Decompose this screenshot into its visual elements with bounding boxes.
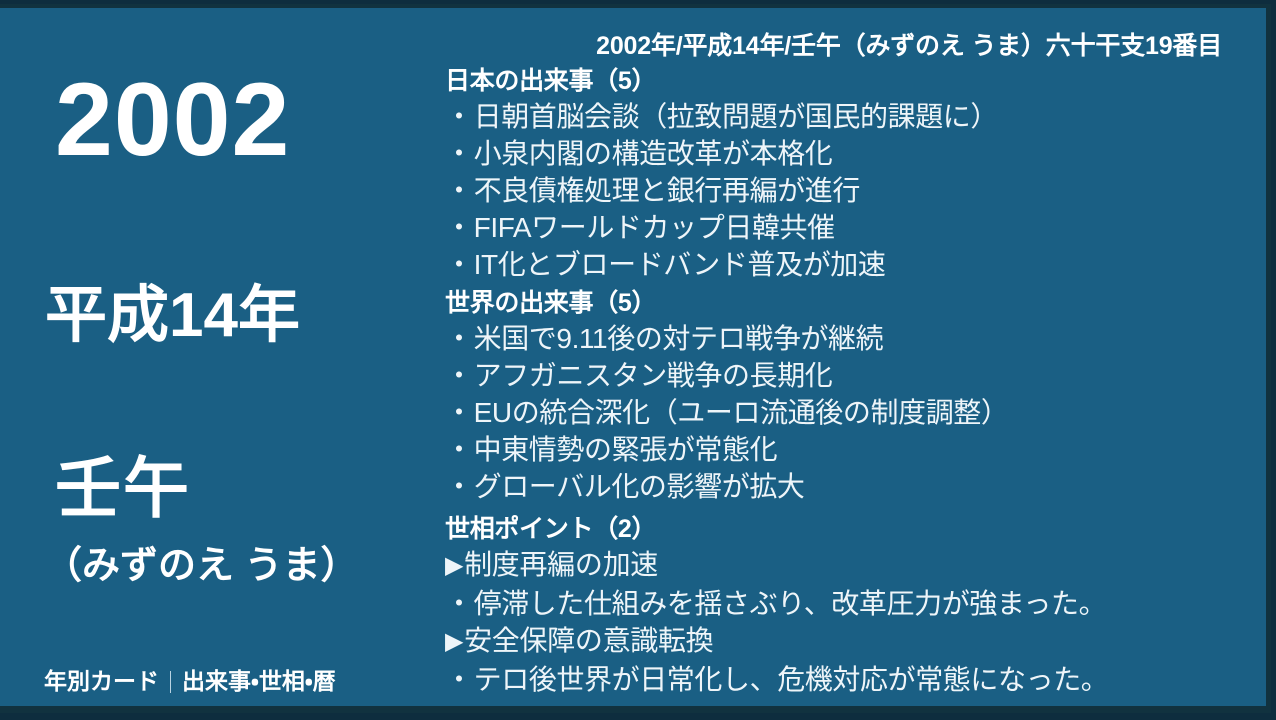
left-column: 2002 平成14年 壬午 （みずのえ うま） 年別カード 出来事・世相・暦 <box>0 4 440 713</box>
section-japan-events: 日本の出来事（5） ・日朝首脳会談（拉致問題が国民的課題に）・小泉内閣の構造改革… <box>445 64 998 283</box>
list-item: ・IT化とブロードバンド普及が加速 <box>445 246 998 283</box>
list-item-text: EUの統合深化（ユーロ流通後の制度調整） <box>474 394 1009 431</box>
list-item-text: FIFAワールドカップ日韓共催 <box>474 209 835 246</box>
triangle-marker-icon: ▶ <box>445 547 463 584</box>
bullet-dot-icon: ・ <box>445 209 473 246</box>
top-edge-bar <box>0 4 1271 8</box>
footer-divider <box>170 671 171 693</box>
list-item-text: 制度再編の加速 <box>464 546 658 583</box>
right-column: 日本の出来事（5） ・日朝首脳会談（拉致問題が国民的課題に）・小泉内閣の構造改革… <box>440 4 1271 713</box>
list-item: ▶制度再編の加速 <box>445 546 1108 585</box>
year-heading: 2002 <box>55 68 290 172</box>
list-item: ・FIFAワールドカップ日韓共催 <box>445 209 998 246</box>
list-item-text: 日朝首脳会談（拉致問題が国民的課題に） <box>474 98 998 135</box>
right-edge-bar <box>1266 4 1271 713</box>
footer-label-topics: 出来事・世相・暦 <box>182 670 336 693</box>
list-item-text: IT化とブロードバンド普及が加速 <box>474 246 886 283</box>
card-footer: 年別カード 出来事・世相・暦 <box>44 670 336 693</box>
era-heading: 平成14年 <box>45 285 300 347</box>
list-item-text: テロ後世界が日常化し、危機対応が常態になった。 <box>474 661 1109 698</box>
bullet-dot-icon: ・ <box>445 246 473 283</box>
bullet-dot-icon: ・ <box>445 585 473 622</box>
bullet-dot-icon: ・ <box>445 135 473 172</box>
triangle-marker-icon: ▶ <box>445 623 463 660</box>
bullet-dot-icon: ・ <box>445 98 473 135</box>
list-item: ・グローバル化の影響が拡大 <box>445 468 1009 505</box>
bullet-dot-icon: ・ <box>445 320 473 357</box>
list-item: ・中東情勢の緊張が常態化 <box>445 431 1009 468</box>
list-item: ・テロ後世界が日常化し、危機対応が常態になった。 <box>445 661 1108 698</box>
list-item-text: 停滞した仕組みを揺さぶり、改革圧力が強まった。 <box>474 585 1107 622</box>
list-item: ・EUの統合深化（ユーロ流通後の制度調整） <box>445 394 1009 431</box>
mood-points-list: ▶制度再編の加速・停滞した仕組みを揺さぶり、改革圧力が強まった。▶安全保障の意識… <box>445 546 1108 698</box>
zodiac-reading-label: （みずのえ うま） <box>44 547 359 585</box>
bullet-dot-icon: ・ <box>445 468 473 505</box>
world-events-list: ・米国で9.11後の対テロ戦争が継続・アフガニスタン戦争の長期化・EUの統合深化… <box>445 320 1009 505</box>
section-title-world: 世界の出来事（5） <box>445 286 1009 320</box>
list-item-text: 不良債権処理と銀行再編が進行 <box>474 172 860 209</box>
list-item-text: アフガニスタン戦争の長期化 <box>474 357 833 394</box>
list-item: ▶安全保障の意識転換 <box>445 622 1108 661</box>
section-title-japan: 日本の出来事（5） <box>445 64 998 98</box>
bullet-dot-icon: ・ <box>445 431 473 468</box>
japan-events-list: ・日朝首脳会談（拉致問題が国民的課題に）・小泉内閣の構造改革が本格化・不良債権処… <box>445 98 998 283</box>
list-item-text: 中東情勢の緊張が常態化 <box>474 431 778 468</box>
footer-label-card: 年別カード <box>44 670 159 693</box>
list-item: ・アフガニスタン戦争の長期化 <box>445 357 1009 394</box>
list-item: ・不良債権処理と銀行再編が進行 <box>445 172 998 209</box>
section-mood-points: 世相ポイント（2） ▶制度再編の加速・停滞した仕組みを揺さぶり、改革圧力が強まっ… <box>445 512 1108 698</box>
list-item: ・日朝首脳会談（拉致問題が国民的課題に） <box>445 98 998 135</box>
list-item: ・米国で9.11後の対テロ戦争が継続 <box>445 320 1009 357</box>
zodiac-heading: 壬午 <box>55 455 191 521</box>
list-item-text: 米国で9.11後の対テロ戦争が継続 <box>474 320 884 357</box>
bullet-dot-icon: ・ <box>445 394 473 431</box>
section-world-events: 世界の出来事（5） ・米国で9.11後の対テロ戦争が継続・アフガニスタン戦争の長… <box>445 286 1009 505</box>
list-item-text: 小泉内閣の構造改革が本格化 <box>474 135 833 172</box>
bottom-edge-bar <box>0 706 1271 713</box>
year-card: 2002年/平成14年/壬午（みずのえ うま）六十干支19番目 2002 平成1… <box>0 4 1271 713</box>
bullet-dot-icon: ・ <box>445 357 473 394</box>
list-item: ・小泉内閣の構造改革が本格化 <box>445 135 998 172</box>
bullet-dot-icon: ・ <box>445 661 473 698</box>
section-title-mood: 世相ポイント（2） <box>445 512 1108 546</box>
bullet-dot-icon: ・ <box>445 172 473 209</box>
list-item-text: グローバル化の影響が拡大 <box>474 468 805 505</box>
list-item: ・停滞した仕組みを揺さぶり、改革圧力が強まった。 <box>445 585 1108 622</box>
list-item-text: 安全保障の意識転換 <box>464 622 713 659</box>
